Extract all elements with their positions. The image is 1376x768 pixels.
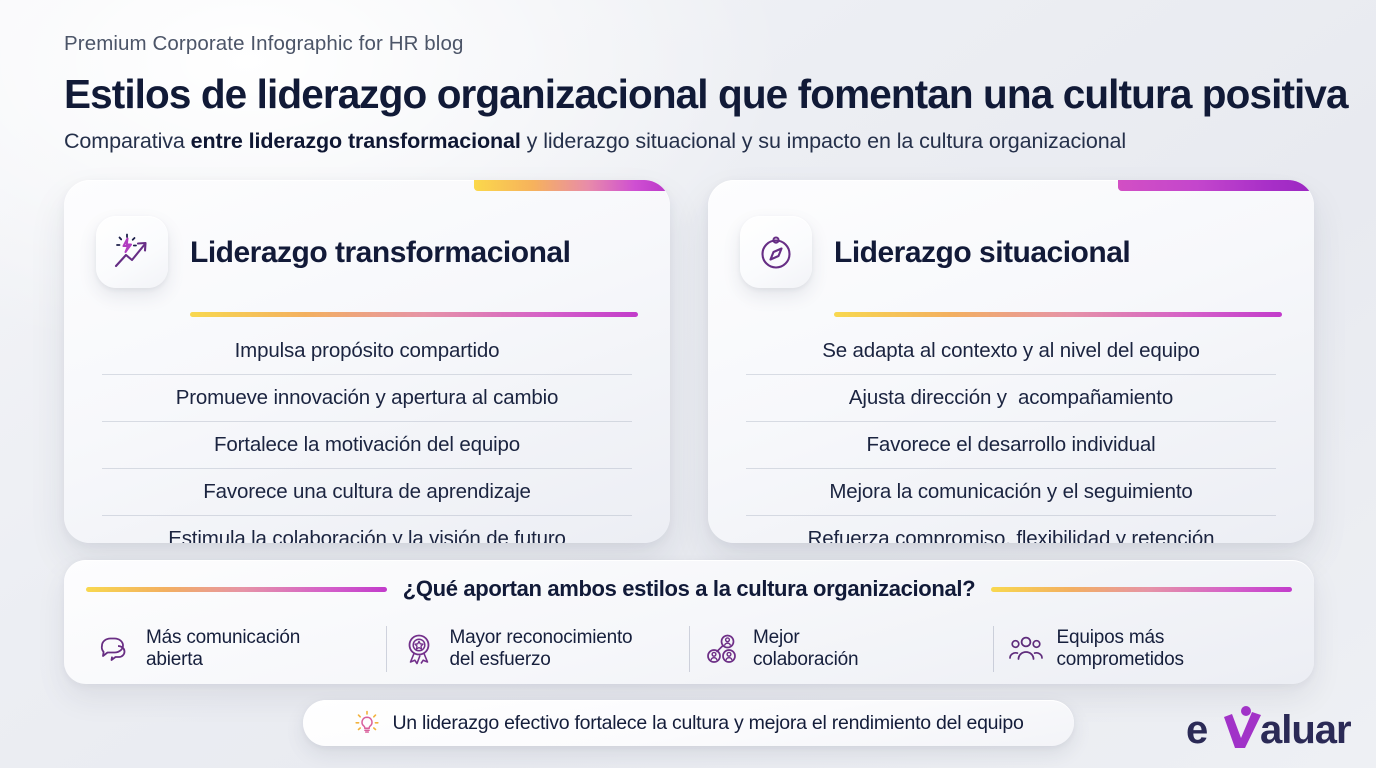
card-feature-list: Impulsa propósito compartido Promueve in… xyxy=(102,327,632,543)
list-item: Favorece una cultura de aprendizaje xyxy=(102,468,632,515)
card-header: Liderazgo transformacional xyxy=(64,180,670,288)
growth-chart-spark-icon-tile xyxy=(96,216,168,288)
list-item: Promueve innovación y apertura al cambio xyxy=(102,374,632,421)
benefit-item-comunicacion: Más comunicaciónabierta xyxy=(82,618,386,680)
footer-note: Un liderazgo efectivo fortalece la cultu… xyxy=(303,700,1074,746)
speech-bubbles-icon xyxy=(98,632,132,666)
benefit-label: Mayor reconocimientodel esfuerzo xyxy=(450,627,633,671)
benefit-item-reconocimiento: Mayor reconocimientodel esfuerzo xyxy=(386,618,690,680)
list-item: Fortalece la motivación del equipo xyxy=(102,421,632,468)
eyebrow-text: Premium Corporate Infographic for HR blo… xyxy=(64,32,1314,57)
benefits-rule-left xyxy=(86,587,387,592)
header-block: Premium Corporate Infographic for HR blo… xyxy=(64,32,1314,155)
benefit-item-colaboracion: Mejorcolaboración xyxy=(689,618,993,680)
svg-text:e: e xyxy=(1186,708,1207,752)
benefit-line-1: Más comunicación xyxy=(146,627,300,648)
card-feature-list: Se adapta al contexto y al nivel del equ… xyxy=(746,327,1276,543)
list-item: Estimula la colaboración y la visión de … xyxy=(102,515,632,543)
benefit-label: Más comunicaciónabierta xyxy=(146,627,300,671)
people-group-icon xyxy=(1009,632,1043,666)
list-item: Se adapta al contexto y al nivel del equ… xyxy=(746,327,1276,374)
list-item: Favorece el desarrollo individual xyxy=(746,421,1276,468)
people-network-icon xyxy=(705,632,739,666)
benefit-label: Equipos máscomprometidos xyxy=(1057,627,1184,671)
award-rosette-icon xyxy=(402,632,436,666)
card-liderazgo-transformacional: Liderazgo transformacional Impulsa propó… xyxy=(64,180,670,543)
benefits-title: ¿Qué aportan ambos estilos a la cultura … xyxy=(403,576,975,602)
benefit-line-2: comprometidos xyxy=(1057,649,1184,670)
benefits-header: ¿Qué aportan ambos estilos a la cultura … xyxy=(64,560,1314,618)
card-accent-bar xyxy=(1118,180,1314,191)
growth-chart-spark-icon xyxy=(111,231,153,273)
benefits-panel: ¿Qué aportan ambos estilos a la cultura … xyxy=(64,560,1314,684)
card-title: Liderazgo transformacional xyxy=(190,236,570,269)
subtitle-part-1: Comparativa xyxy=(64,129,191,153)
benefit-line-2: colaboración xyxy=(753,649,858,670)
benefit-line-2: abierta xyxy=(146,649,203,670)
subtitle-part-2: y liderazgo situacional y su impacto en … xyxy=(521,129,1126,153)
list-item: Mejora la comunicación y el seguimiento xyxy=(746,468,1276,515)
card-accent-bar xyxy=(474,180,670,191)
card-header: Liderazgo situacional xyxy=(708,180,1314,288)
compass-icon xyxy=(755,231,797,273)
page-title: Estilos de liderazgo organizacional que … xyxy=(64,71,1314,119)
list-item: Refuerza compromiso, flexibilidad y rete… xyxy=(746,515,1276,543)
page-subtitle: Comparativa entre liderazgo transformaci… xyxy=(64,128,1314,155)
list-item: Impulsa propósito compartido xyxy=(102,327,632,374)
card-liderazgo-situacional: Liderazgo situacional Se adapta al conte… xyxy=(708,180,1314,543)
benefit-line-2: del esfuerzo xyxy=(450,649,551,670)
benefits-rule-right xyxy=(991,587,1292,592)
evaluar-logo-mark: e aluar xyxy=(1184,703,1352,757)
benefit-line-1: Mejor xyxy=(753,627,800,648)
lightbulb-icon xyxy=(353,709,381,737)
benefit-item-equipos: Equipos máscomprometidos xyxy=(993,618,1297,680)
footer-text: Un liderazgo efectivo fortalece la cultu… xyxy=(392,712,1023,735)
subtitle-emphasis: entre liderazgo transformacional xyxy=(191,129,521,153)
card-title: Liderazgo situacional xyxy=(834,236,1130,269)
brand-logo: e aluar xyxy=(1184,703,1352,757)
svg-text:aluar: aluar xyxy=(1260,708,1351,752)
benefits-list: Más comunicaciónabierta xyxy=(64,618,1314,680)
card-title-rule xyxy=(834,312,1282,317)
infographic-canvas: Premium Corporate Infographic for HR blo… xyxy=(0,0,1376,768)
benefit-line-1: Mayor reconocimiento xyxy=(450,627,633,648)
list-item: Ajusta dirección y acompañamiento xyxy=(746,374,1276,421)
benefit-label: Mejorcolaboración xyxy=(753,627,858,671)
benefit-line-1: Equipos más xyxy=(1057,627,1165,648)
compass-icon-tile xyxy=(740,216,812,288)
card-title-rule xyxy=(190,312,638,317)
